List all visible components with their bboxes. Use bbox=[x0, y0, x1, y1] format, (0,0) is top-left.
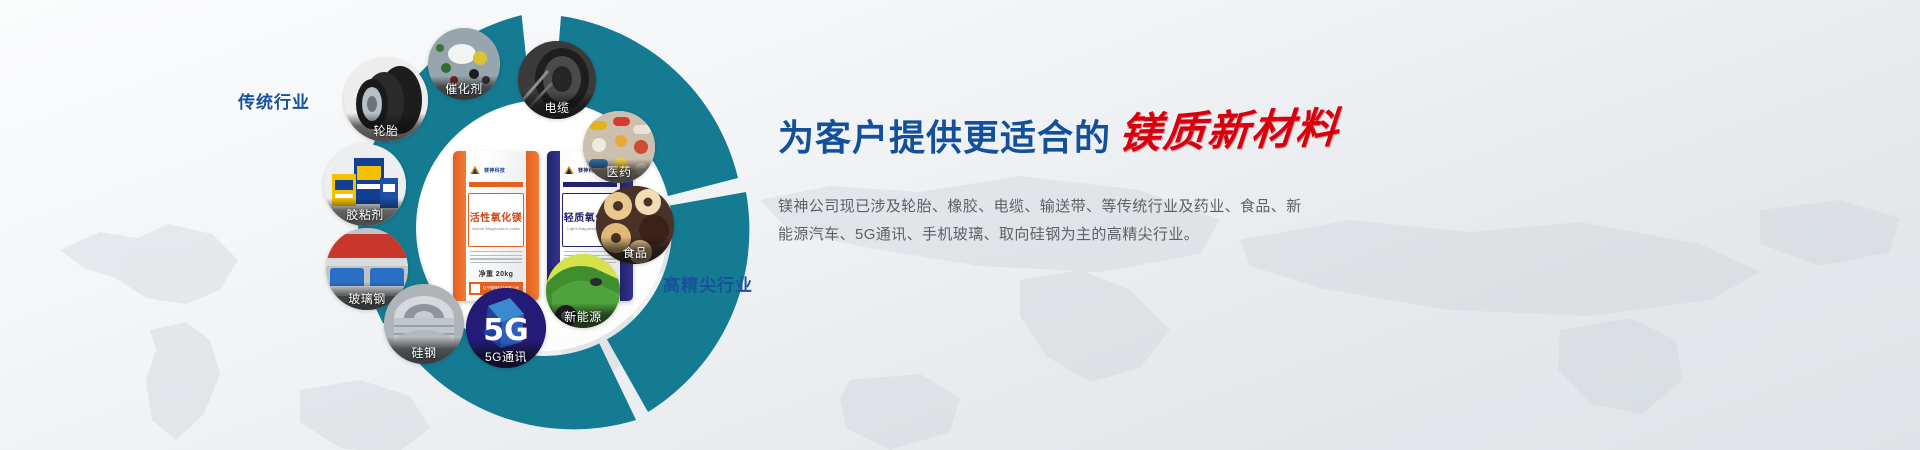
node-label: 新能源 bbox=[546, 303, 620, 328]
bag-product-name: 活性氧化镁 bbox=[470, 209, 523, 224]
bag-description-lines bbox=[470, 251, 522, 267]
bag-weight: 净重 20kg bbox=[453, 269, 539, 279]
bag-brand-name: 镁神科技 bbox=[484, 167, 505, 174]
headline: 为客户提供更适合的 镁质新材料 bbox=[778, 100, 1478, 161]
node-label: 催化剂 bbox=[428, 76, 500, 100]
banner-stage: 镁神科技 活性氧化镁 Active Magnesium oxide 净重 20k… bbox=[0, 0, 1920, 450]
industry-node-tire[interactable]: 轮胎 bbox=[344, 58, 428, 142]
headline-blue-text: 为客户提供更适合的 bbox=[778, 109, 1111, 161]
label-traditional-industries: 传统行业 bbox=[238, 88, 310, 113]
industry-node-pharmaceutical[interactable]: 医药 bbox=[583, 111, 655, 183]
headline-red-text: 镁质新材料 bbox=[1117, 94, 1342, 161]
bag-brand-row: 镁神科技 bbox=[469, 162, 523, 178]
paragraph-line-2: 能源汽车、5G通讯、手机玻璃、取向硅钢为主的高精尖行业。 bbox=[778, 221, 1298, 249]
node-label: 医药 bbox=[583, 159, 655, 183]
banner-copy: 为客户提供更适合的 镁质新材料 镁神公司现已涉及轮胎、橡胶、电缆、输送带、等传统… bbox=[778, 100, 1478, 249]
brand-logo-icon bbox=[469, 164, 481, 176]
node-label: 硅钢 bbox=[384, 337, 464, 364]
industry-node-cable[interactable]: 电缆 bbox=[518, 41, 596, 119]
bag-name-panel: 活性氧化镁 Active Magnesium oxide bbox=[468, 193, 524, 247]
node-label: 胶粘剂 bbox=[324, 198, 406, 226]
label-hightech-industries: 高精尖行业 bbox=[663, 271, 753, 296]
industry-node-silicon-steel[interactable]: 硅钢 bbox=[384, 284, 464, 364]
node-label: 5G通讯 bbox=[466, 341, 546, 368]
industry-circle-diagram: 镁神科技 活性氧化镁 Active Magnesium oxide 净重 20k… bbox=[318, 6, 770, 450]
bag-stripe bbox=[469, 182, 523, 187]
brand-logo-icon bbox=[563, 164, 575, 176]
industry-node-new-energy[interactable]: 新能源 bbox=[546, 254, 620, 328]
industry-node-adhesive[interactable]: 胶粘剂 bbox=[324, 144, 406, 226]
node-label: 轮胎 bbox=[344, 113, 428, 142]
banner-paragraph: 镁神公司现已涉及轮胎、橡胶、电缆、输送带、等传统行业及药业、食品、新 能源汽车、… bbox=[778, 193, 1298, 249]
industry-node-catalyst[interactable]: 催化剂 bbox=[428, 28, 500, 100]
bag-product-name-en: Active Magnesium oxide bbox=[472, 226, 520, 231]
paragraph-line-1: 镁神公司现已涉及轮胎、橡胶、电缆、输送带、等传统行业及药业、食品、新 bbox=[778, 193, 1298, 221]
industry-node-5g[interactable]: 5G 5G通讯 bbox=[466, 288, 546, 368]
industry-node-food[interactable]: 食品 bbox=[596, 186, 674, 264]
product-bag-active-magnesium-oxide: 镁神科技 活性氧化镁 Active Magnesium oxide 净重 20k… bbox=[453, 151, 539, 301]
